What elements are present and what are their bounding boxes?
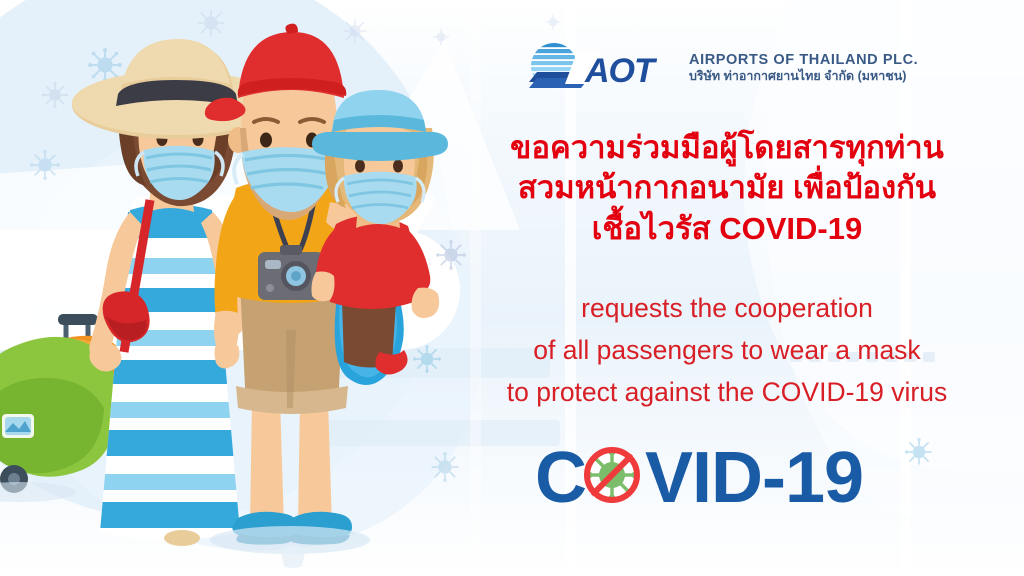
thai-headline: ขอความร่วมมือผู้โดยสารทุกท่าน สวมหน้ากาก… [430,128,1024,249]
svg-text:AOT: AOT [584,52,658,90]
poster-canvas: AOT AIRPORTS OF THAILAND PLC. บริษัท ท่า… [0,0,1024,576]
aot-org-name-en: AIRPORTS OF THAILAND PLC. [689,52,918,69]
covid-badge-text-vid19: VID-19 [645,440,863,516]
family-travellers-illustration [0,0,470,576]
message-panel: AOT AIRPORTS OF THAILAND PLC. บริษัท ท่า… [430,0,1024,576]
covid-badge-letter-c: C [535,440,587,516]
covid-19-badge: C [430,440,1024,520]
aot-logo: AOT AIRPORTS OF THAILAND PLC. บริษัท ท่า… [525,42,918,94]
thai-headline-line-3: เชื้อไวรัส COVID-19 [430,209,1024,249]
thai-headline-line-1: ขอความร่วมมือผู้โดยสารทุกท่าน [430,128,1024,168]
aot-org-name-th: บริษัท ท่าอากาศยานไทย จำกัด (มหาชน) [689,69,918,85]
english-message-line-1: requests the cooperation [430,288,1024,330]
english-message-line-3: to protect against the COVID-19 virus [430,372,1024,414]
english-message: requests the cooperation of all passenge… [430,288,1024,414]
aot-emblem-icon: AOT [525,42,675,94]
thai-headline-line-2: สวมหน้ากากอนามัย เพื่อป้องกัน [430,168,1024,208]
english-message-line-2: of all passengers to wear a mask [430,330,1024,372]
no-virus-prohibition-icon [586,449,639,502]
